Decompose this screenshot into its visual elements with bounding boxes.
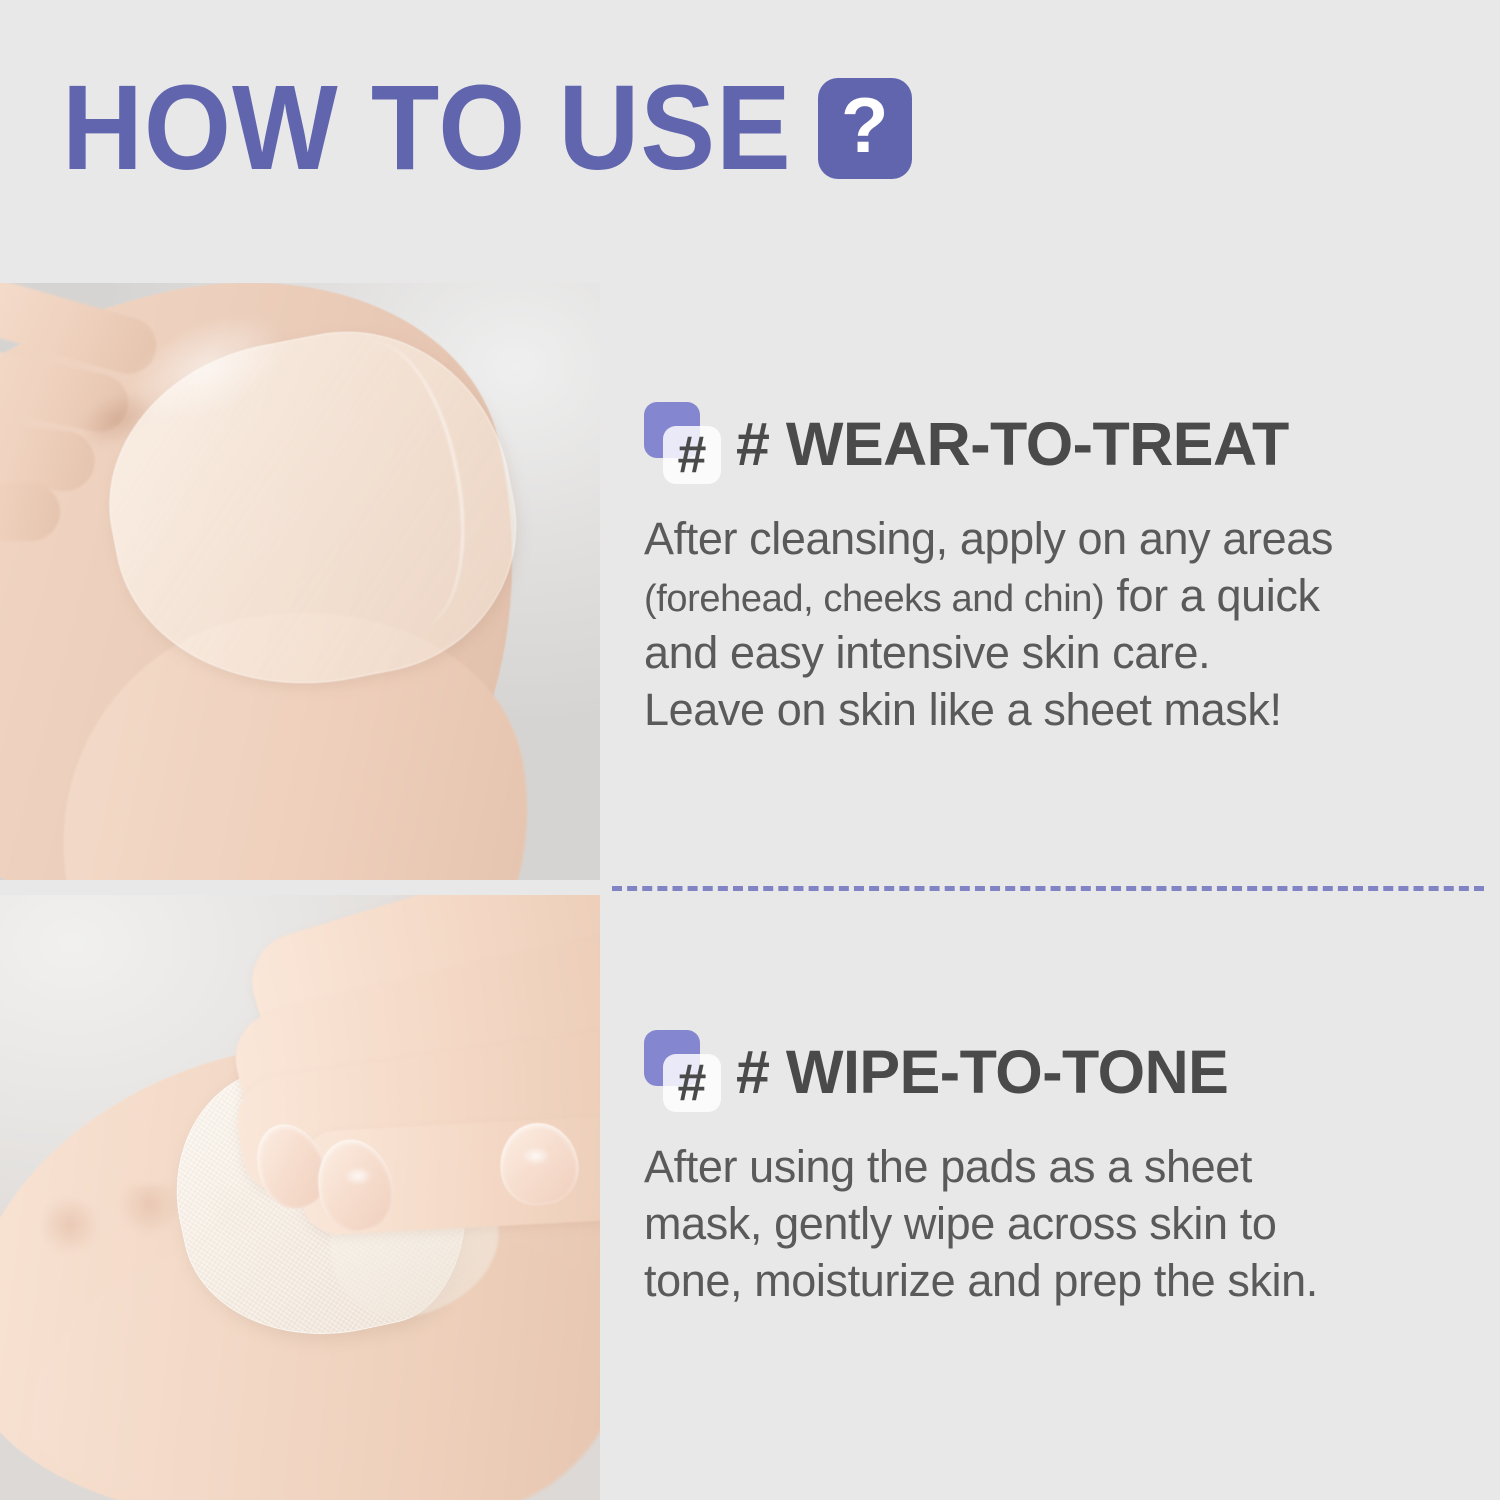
section-heading-row: # # WIPE-TO-TONE: [644, 1028, 1474, 1116]
hashtag-glyph: #: [663, 1054, 721, 1112]
body-line-2: mask, gently wipe across skin to: [644, 1198, 1276, 1249]
section-wipe-to-tone: # # WIPE-TO-TONE After using the pads as…: [644, 1028, 1474, 1309]
page-header: HOW TO USE ?: [0, 0, 1500, 283]
nail-highlight: [522, 1147, 550, 1165]
section-heading-row: # # WEAR-TO-TREAT: [644, 400, 1474, 488]
body-line-4: Leave on skin like a sheet mask!: [644, 684, 1282, 735]
nail-highlight: [344, 1167, 372, 1185]
section-title: # WEAR-TO-TREAT: [736, 414, 1289, 475]
section-divider: [612, 886, 1484, 891]
body-line-2-small: (forehead, cheeks and chin): [644, 578, 1104, 620]
header-title-row: HOW TO USE ?: [62, 72, 912, 184]
finger-shape: [0, 483, 60, 541]
section-title: # WIPE-TO-TONE: [736, 1042, 1228, 1103]
section-wear-to-treat: # # WEAR-TO-TREAT After cleansing, apply…: [644, 400, 1474, 739]
body-line-1: After cleansing, apply on any areas: [644, 513, 1333, 564]
hashtag-icon: #: [644, 1028, 732, 1116]
body-line-2-rest: for a quick: [1104, 570, 1319, 621]
photo-canvas-top: [0, 283, 600, 880]
hashtag-icon: #: [644, 400, 732, 488]
question-mark-icon: ?: [818, 78, 912, 179]
body-line-1: After using the pads as a sheet: [644, 1141, 1252, 1192]
photo-wipe-to-tone: [0, 895, 600, 1500]
photo-canvas-bottom: [0, 895, 600, 1500]
hashtag-glyph: #: [663, 426, 721, 484]
body-line-3: and easy intensive skin care.: [644, 627, 1210, 678]
page-title: HOW TO USE: [62, 68, 792, 189]
section-body: After cleansing, apply on any areas (for…: [644, 510, 1474, 739]
body-line-3: tone, moisturize and prep the skin.: [644, 1255, 1318, 1306]
section-body: After using the pads as a sheet mask, ge…: [644, 1138, 1474, 1309]
photo-wear-to-treat: [0, 283, 600, 880]
